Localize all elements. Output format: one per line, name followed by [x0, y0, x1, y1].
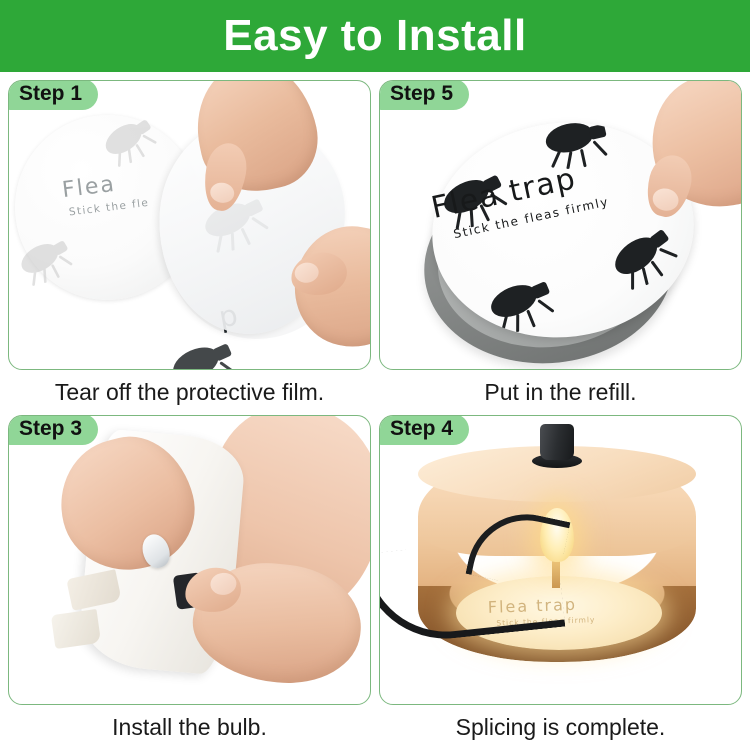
step-badge-2: Step 5	[379, 80, 469, 110]
step-cell-3: Step 3 Install the bulb.	[8, 415, 371, 746]
step-badge-1: Step 1	[8, 80, 98, 110]
fingernail	[293, 261, 320, 284]
step-cell-4: Step 4 Flea trap Stick the fleas firmly	[379, 415, 742, 746]
step-caption-1: Tear off the protective film.	[8, 370, 371, 411]
step-caption-4: Splicing is complete.	[379, 705, 742, 746]
header-banner: Easy to Install	[0, 0, 750, 72]
step-panel-1: Step 1	[8, 80, 371, 370]
step-panel-4: Step 4 Flea trap Stick the fleas firmly	[379, 415, 742, 705]
cover-tab-lower	[51, 609, 101, 649]
fingernail	[650, 186, 681, 214]
step-photo-2: Flea trap Stick the fleas firmly	[380, 81, 741, 369]
fingernail	[209, 181, 236, 205]
fingernail	[209, 572, 237, 597]
flea-silhouette-icon	[163, 336, 246, 369]
flea-silhouette-icon	[481, 274, 563, 337]
flea-silhouette-icon	[12, 232, 83, 289]
steps-grid: Step 1	[0, 72, 750, 750]
step-photo-1: Flea Stick the fle	[9, 81, 370, 369]
step-badge-4: Step 4	[379, 415, 469, 445]
step-panel-3: Step 3	[8, 415, 371, 705]
step-cell-1: Step 1	[8, 80, 371, 411]
flea-silhouette-icon	[96, 111, 168, 171]
flea-silhouette-icon	[601, 220, 689, 297]
step-badge-3: Step 3	[8, 415, 98, 445]
page-title: Easy to Install	[223, 14, 526, 58]
step-photo-4: Flea trap Stick the fleas firmly	[380, 416, 741, 704]
step-caption-2: Put in the refill.	[379, 370, 742, 411]
step-caption-3: Install the bulb.	[8, 705, 371, 746]
step-panel-2: Step 5	[379, 80, 742, 370]
connector-cap	[540, 424, 574, 460]
step-photo-3	[9, 416, 370, 704]
step-cell-2: Step 5	[379, 80, 742, 411]
